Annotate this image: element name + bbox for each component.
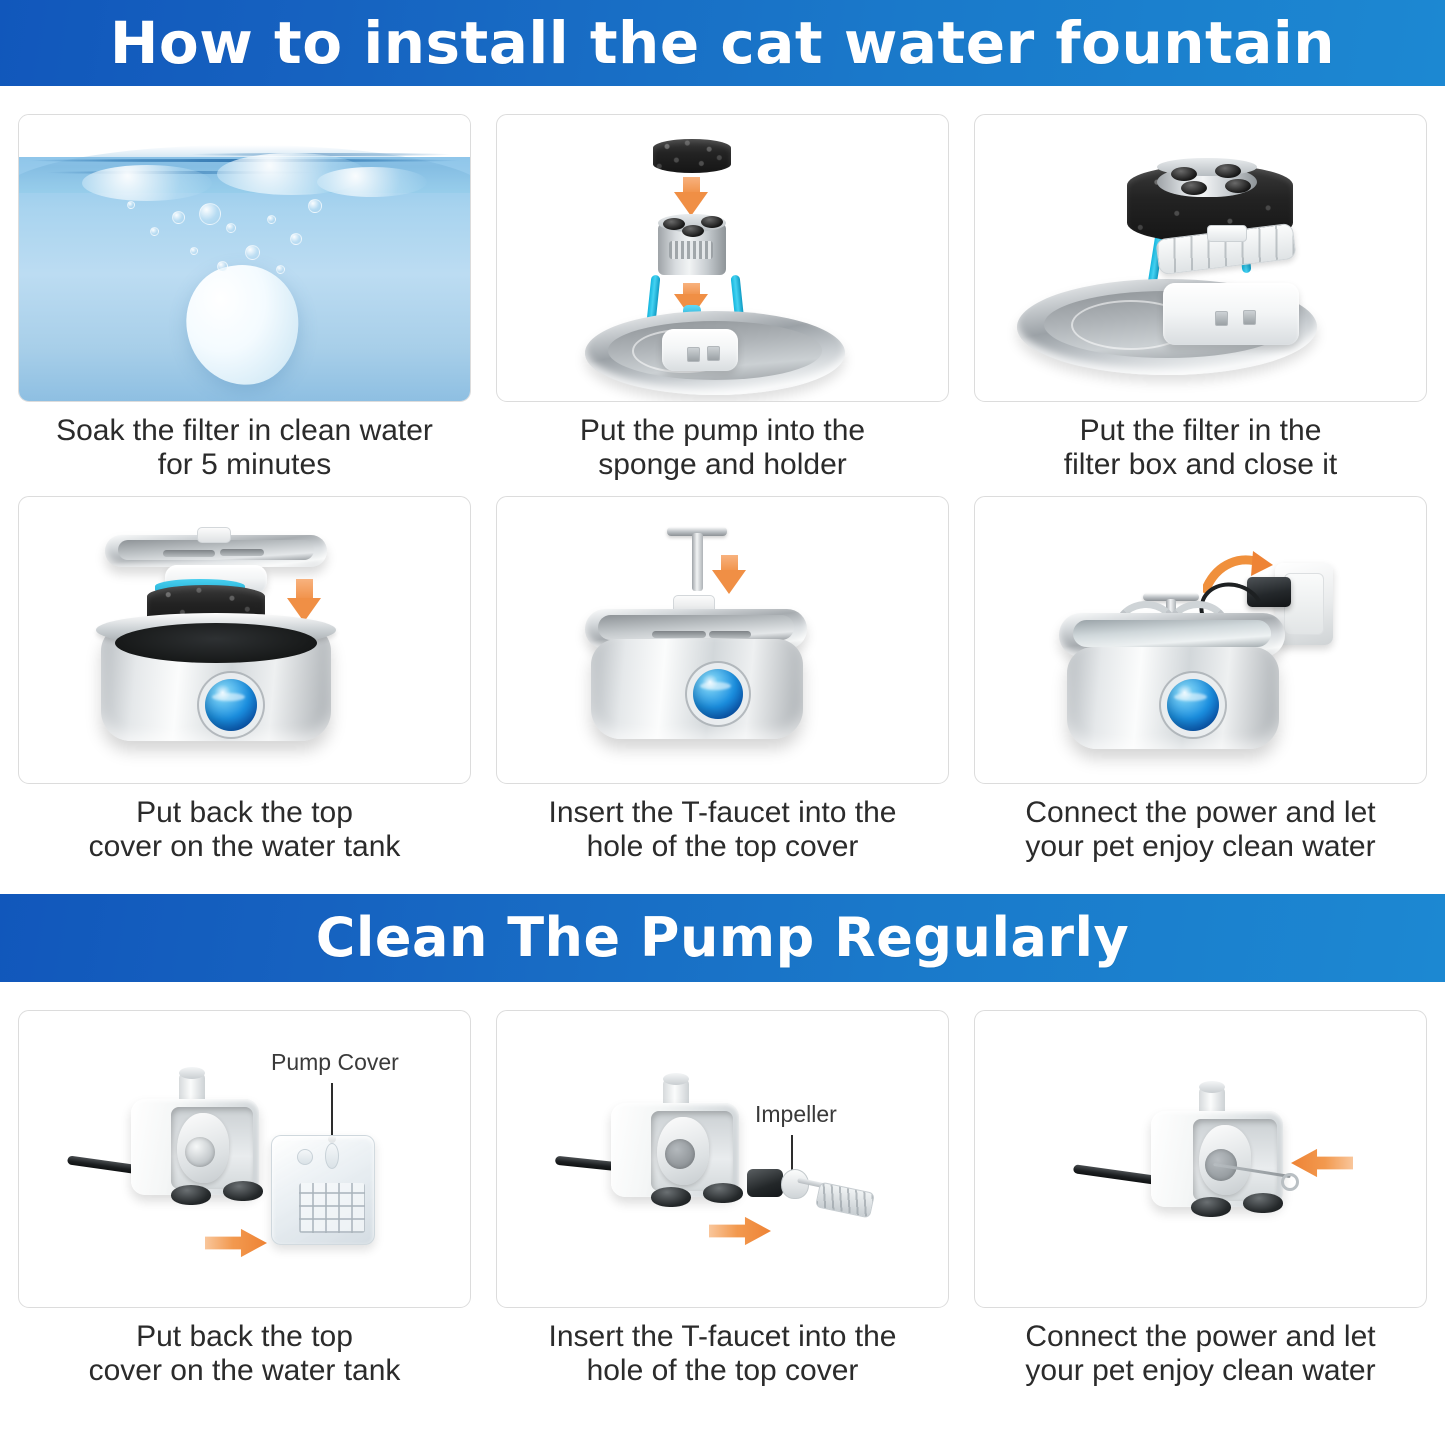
pump-cover-hole [297,1149,313,1165]
cover-water-surface [1073,620,1272,647]
suction-cup [1225,179,1251,193]
suction-cup-foot [651,1187,691,1207]
impeller-magnet [747,1169,783,1197]
suction-cup-foot [223,1181,263,1201]
banner-install-title: How to install the cat water fountain [110,14,1335,72]
brush-clean-scene [975,1011,1426,1307]
install-step-1-image [18,114,471,402]
install-step-3-image [974,114,1427,402]
clean-step-2-caption: Insert the T-faucet into the hole of the… [549,1320,897,1392]
orange-left-arrow [1291,1147,1353,1179]
cover-slot [709,631,751,638]
clean-step-1-caption: Put back the top cover on the water tank [89,1320,401,1392]
air-bubble [267,215,276,224]
air-bubble [150,227,159,236]
install-step-4: Put back the top cover on the water tank [18,496,471,868]
filter-box-slot [707,346,720,361]
air-bubble [276,265,285,274]
cover-slot [652,631,706,638]
air-bubble [308,199,322,213]
install-step-2-image [496,114,949,402]
install-steps-grid: Soak the filter in clean water for 5 min… [0,114,1445,868]
air-bubble [290,233,302,245]
banner-clean-title: Clean The Pump Regularly [316,911,1129,965]
top-cover-onto-tank-scene [19,497,470,783]
water-foam [317,167,427,197]
clean-step-1: Pump Cover [18,1010,471,1392]
install-step-2-caption: Put the pump into the sponge and holder [580,414,865,486]
pump-cover-callout-label: Pump Cover [271,1049,399,1075]
orange-down-arrow [712,570,746,594]
clean-step-3: Connect the power and let your pet enjoy… [974,1010,1427,1392]
cleaning-brush [815,1181,875,1218]
suction-cup [1181,181,1207,195]
suction-cup-foot [1191,1197,1231,1217]
filter-box-slot [687,347,700,362]
suction-cup-foot [1243,1193,1283,1213]
install-step-5-caption: Insert the T-faucet into the hole of the… [549,796,897,868]
water-level-window [205,679,257,731]
white-filter-box [1163,283,1299,345]
suction-cup-foot [703,1183,743,1203]
clean-steps-grid: Pump Cover [0,1010,1445,1392]
install-step-6: Connect the power and let your pet enjoy… [974,496,1427,868]
install-step-1: Soak the filter in clean water for 5 min… [18,114,471,486]
callout-leader-line [331,1083,333,1139]
infographic-page: How to install the cat water fountain [0,0,1445,1445]
install-step-4-caption: Put back the top cover on the water tank [89,796,401,868]
cover-faucet-nub [197,527,231,543]
suction-cup [701,216,723,228]
pump-rotor [185,1137,215,1167]
arrow-shape [1291,1147,1353,1179]
air-bubble [245,245,260,260]
pump-cover-ridge [325,1143,339,1169]
install-step-6-caption: Connect the power and let your pet enjoy… [1025,796,1375,868]
arrow-shape [709,1215,771,1247]
install-step-5-image [496,496,949,784]
t-faucet-insert-scene [497,497,948,783]
suction-cup [1171,167,1197,181]
connect-power-scene [975,497,1426,783]
t-faucet-stem [692,533,703,591]
pump-into-sponge-scene [497,115,948,401]
clean-step-1-image: Pump Cover [18,1010,471,1308]
suction-cup-foot [171,1185,211,1205]
install-step-1-caption: Soak the filter in clean water for 5 min… [56,414,433,486]
water-level-window [693,669,743,719]
filter-box-lid-tab [1207,225,1247,242]
filter-into-box-scene [975,115,1426,401]
suction-cup [682,225,704,237]
pump-rotor-empty [665,1139,695,1169]
install-step-5: Insert the T-faucet into the hole of the… [496,496,949,868]
arrow-shape [205,1227,267,1259]
filter-box-slot [1243,310,1256,325]
remove-impeller-scene: Impeller [497,1011,948,1307]
pump-vent [669,241,713,259]
install-step-6-image [974,496,1427,784]
filter-soaking-scene [19,115,470,401]
install-step-3: Put the filter in the filter box and clo… [974,114,1427,486]
suction-cup [1215,164,1241,178]
water-foam [82,165,212,201]
orange-right-arrow [709,1215,771,1247]
clean-step-3-image [974,1010,1427,1308]
clean-step-2: Impeller [496,1010,949,1392]
cover-slot [163,550,215,557]
water-level-window [1167,679,1219,731]
remove-pump-cover-scene: Pump Cover [19,1011,470,1307]
cover-inner-surface [118,540,313,560]
pump-cover-grille [299,1183,365,1233]
clean-step-3-caption: Connect the power and let your pet enjoy… [1025,1320,1375,1392]
white-filter-box [662,329,738,371]
install-step-4-image [18,496,471,784]
filter-box-slot [1215,311,1228,326]
install-step-2: Put the pump into the sponge and holder [496,114,949,486]
black-sponge-filter [653,139,731,173]
clean-step-2-image: Impeller [496,1010,949,1308]
banner-clean: Clean The Pump Regularly [0,894,1445,982]
banner-install: How to install the cat water fountain [0,0,1445,86]
orange-down-arrow [674,192,708,216]
cover-slot [220,549,264,556]
install-step-3-caption: Put the filter in the filter box and clo… [1064,414,1337,486]
orange-right-arrow [205,1227,267,1259]
tank-interior [115,623,317,663]
impeller-callout-label: Impeller [755,1101,837,1127]
